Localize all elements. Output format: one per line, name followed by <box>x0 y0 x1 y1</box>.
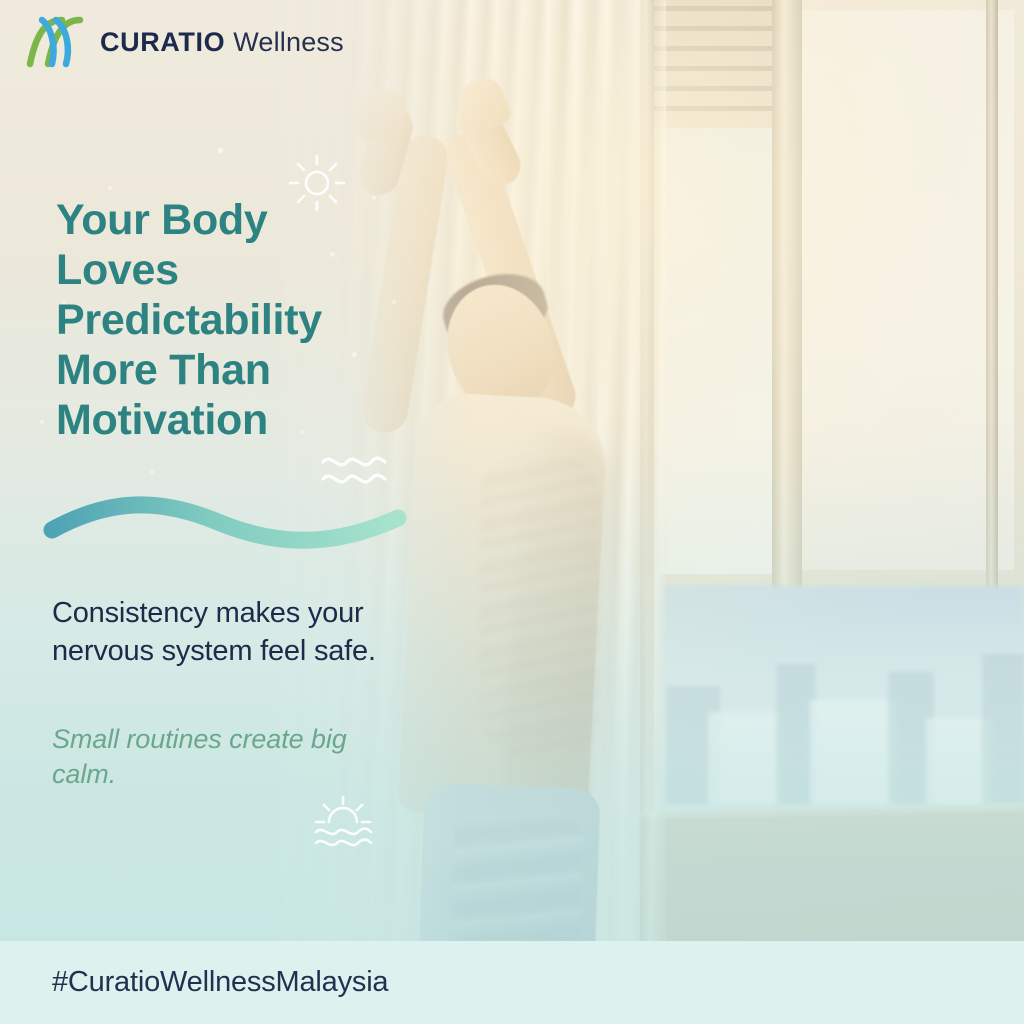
sun-doodle-icon <box>286 152 348 214</box>
wave-divider <box>40 492 410 564</box>
brand-name-bold: CURATIO <box>100 27 225 58</box>
city-view-right-pane <box>660 586 1024 834</box>
brand-wordmark: CURATIO Wellness <box>100 27 344 58</box>
tagline: Small routines create big calm. <box>52 722 382 792</box>
sunrise-over-water-doodle-icon <box>310 794 376 852</box>
wellness-social-post: CURATIO Wellness Your Body Loves Predict… <box>0 0 1024 1024</box>
shirt-folds <box>480 456 600 756</box>
headline: Your Body Loves Predictability More Than… <box>56 196 386 445</box>
water-waves-doodle-icon <box>318 448 390 492</box>
hashtag[interactable]: #CuratioWellnessMalaysia <box>52 966 388 999</box>
brand-logo[interactable]: CURATIO Wellness <box>22 14 344 70</box>
brand-name-light: Wellness <box>233 27 344 58</box>
window-glass-upper-right <box>800 10 1014 570</box>
coffee-mug <box>252 872 292 916</box>
dna-helix-logo-icon <box>22 14 88 70</box>
subhead: Consistency makes your nervous system fe… <box>52 594 442 671</box>
